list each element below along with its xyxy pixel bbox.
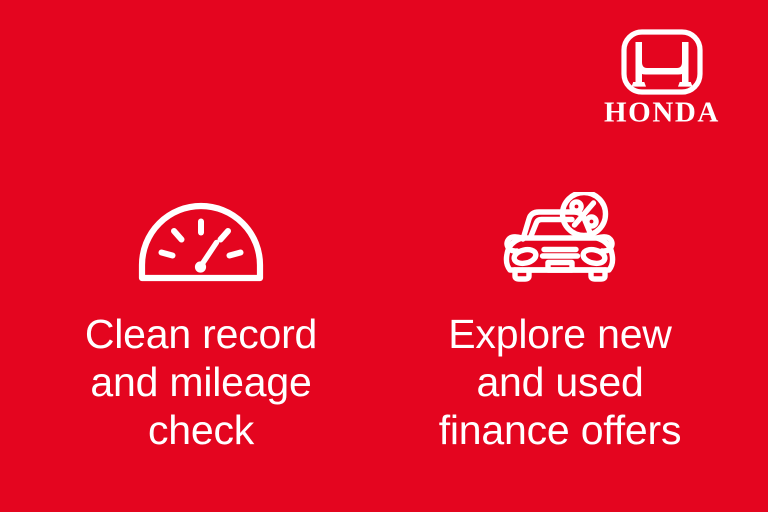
honda-h-badge-icon xyxy=(620,28,704,96)
honda-promo-banner: HONDA xyxy=(0,0,768,512)
car-percent-offer-icon xyxy=(498,192,622,282)
feature-finance-offers[interactable]: Explore new and used finance offers xyxy=(395,186,725,454)
honda-brand-lockup[interactable]: HONDA xyxy=(588,28,736,128)
speedometer-gauge-icon xyxy=(136,200,266,282)
feature-clean-record[interactable]: Clean record and mileage check xyxy=(36,186,366,454)
feature-icon-wrap xyxy=(498,186,622,282)
feature-icon-wrap xyxy=(136,186,266,282)
honda-wordmark: HONDA xyxy=(588,96,736,128)
feature-clean-record-caption: Clean record and mileage check xyxy=(85,310,317,454)
honda-wordmark-text: HONDA xyxy=(604,97,720,129)
feature-finance-offers-caption: Explore new and used finance offers xyxy=(439,310,682,454)
